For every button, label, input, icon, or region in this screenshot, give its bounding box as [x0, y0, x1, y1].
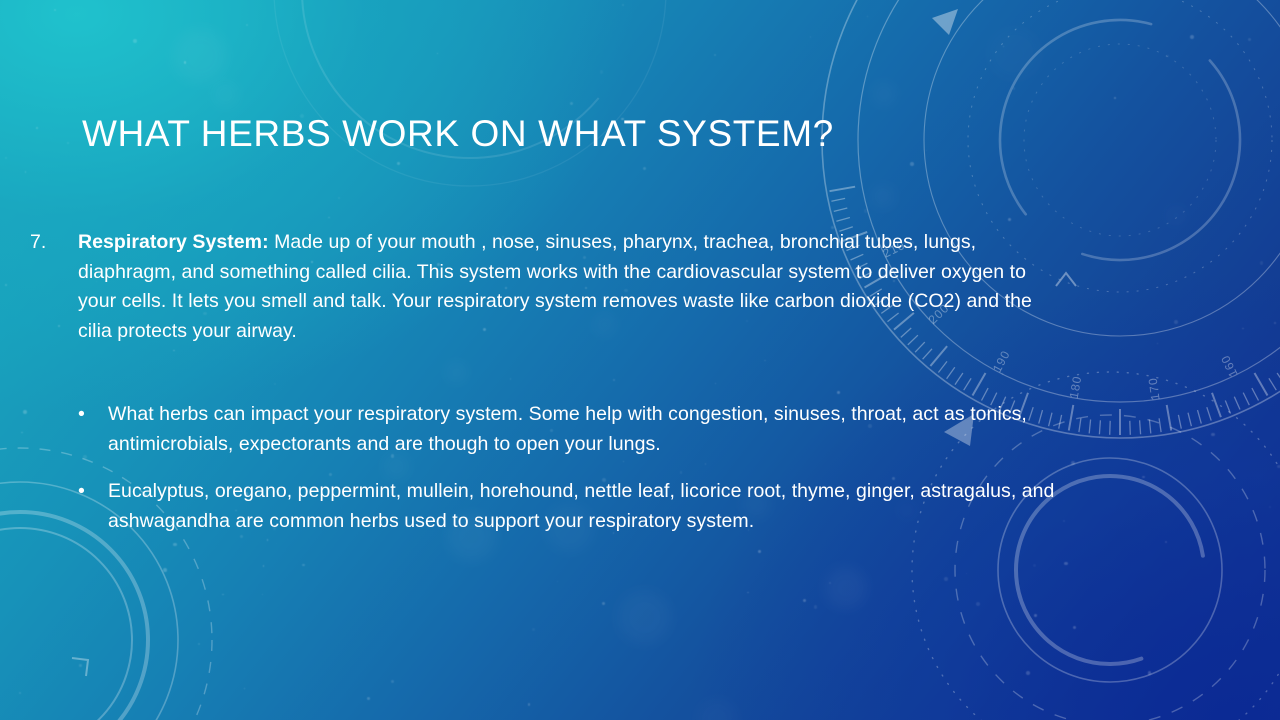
svg-text:180: 180: [1067, 375, 1085, 400]
bullet-marker-icon: •: [78, 477, 85, 507]
svg-text:160: 160: [1218, 353, 1241, 380]
bullet-marker-icon: •: [78, 400, 85, 430]
bullet-list: •What herbs can impact your respiratory …: [0, 400, 1060, 536]
list-item-number: 7.: [30, 228, 46, 258]
list-item-lead-label: Respiratory System:: [78, 231, 269, 253]
list-item: •What herbs can impact your respiratory …: [0, 400, 1060, 459]
page-title: WHAT HERBS WORK ON WHAT SYSTEM?: [82, 112, 982, 156]
svg-text:170: 170: [1146, 376, 1163, 401]
list-item: •Eucalyptus, oregano, peppermint, mullei…: [0, 477, 1060, 536]
list-item-text: Eucalyptus, oregano, peppermint, mullein…: [108, 480, 1054, 532]
slide-body: 7.Respiratory System: Made up of your mo…: [0, 228, 1060, 536]
slide: 140150160170180190200210: [0, 0, 1280, 720]
numbered-list-item: 7.Respiratory System: Made up of your mo…: [0, 228, 1060, 346]
faint-arc-graphic: [260, 0, 680, 200]
list-item-text: What herbs can impact your respiratory s…: [108, 403, 1027, 455]
